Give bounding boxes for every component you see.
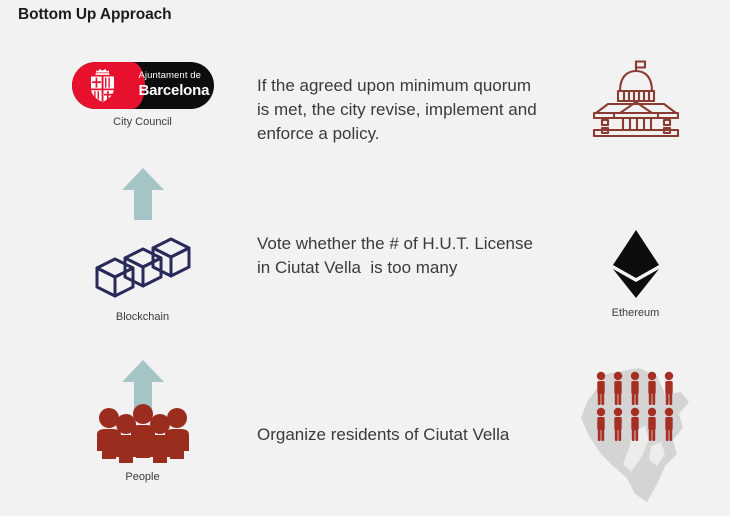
- node-capitol: [548, 58, 723, 138]
- description-city-council: If the agreed upon minimum quorum is met…: [257, 74, 547, 146]
- node-ethereum: Ethereum: [548, 228, 723, 319]
- ethereum-logo-icon: [548, 228, 723, 300]
- ciutat-vella-district-map-icon: [548, 362, 723, 512]
- node-label-blockchain: Blockchain: [55, 311, 230, 323]
- arrow-blockchain-to-city-council: [55, 166, 230, 227]
- node-blockchain: Blockchain: [55, 232, 230, 323]
- node-people: People: [55, 402, 230, 483]
- barcelona-crest-icon: [88, 68, 117, 103]
- arrow-up-icon: [120, 166, 166, 222]
- logo-line-ajuntament: Ajuntament de: [139, 70, 210, 82]
- node-label-ethereum: Ethereum: [548, 307, 723, 319]
- barcelona-city-council-logo: Ajuntament de Barcelona: [55, 62, 230, 109]
- description-text: Organize residents of Ciutat Vella: [257, 423, 547, 447]
- description-blockchain: Vote whether the # of H.U.T. License in …: [257, 232, 547, 280]
- node-label-city-council: City Council: [55, 116, 230, 128]
- page-title: Bottom Up Approach: [18, 6, 171, 24]
- blockchain-cubes-icon: [55, 232, 230, 304]
- node-label-people: People: [55, 471, 230, 483]
- capitol-building-icon: [548, 58, 723, 138]
- node-city-council: Ajuntament de Barcelona City Council: [55, 62, 230, 128]
- description-text: If the agreed upon minimum quorum is met…: [257, 74, 547, 146]
- logo-line-barcelona: Barcelona: [139, 82, 210, 99]
- logo-wordmark: Ajuntament de Barcelona: [139, 70, 210, 99]
- node-ciutat-vella-map: [548, 362, 723, 512]
- description-text: Vote whether the # of H.U.T. License in …: [257, 232, 547, 280]
- people-group-icon: [55, 402, 230, 464]
- description-people: Organize residents of Ciutat Vella: [257, 423, 547, 447]
